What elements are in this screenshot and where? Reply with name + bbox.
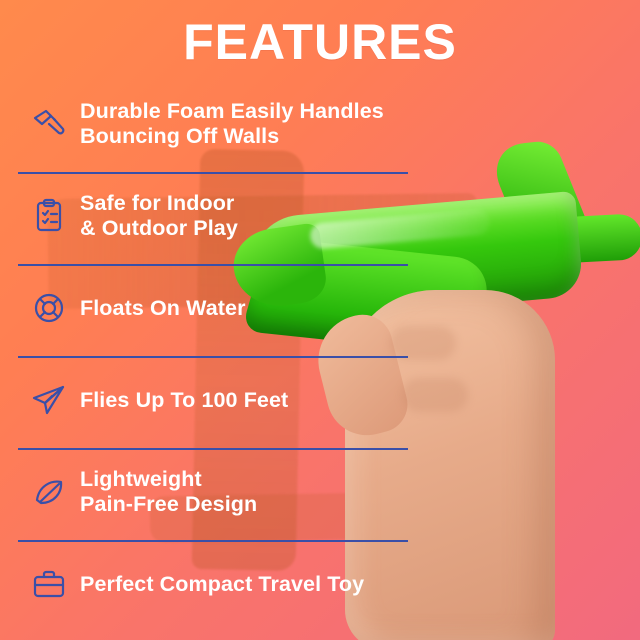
feature-poster: FEATURES Durable Foam Easily Handles Bou… bbox=[0, 0, 640, 640]
page-title: FEATURES bbox=[0, 14, 640, 70]
list-item-label: Floats On Water bbox=[80, 296, 246, 321]
list-item: Lightweight Pain-Free Design bbox=[18, 448, 408, 540]
list-item: Safe for Indoor & Outdoor Play bbox=[18, 172, 408, 264]
clipboard-checklist-icon bbox=[18, 188, 80, 244]
list-item: Perfect Compact Travel Toy bbox=[18, 540, 408, 632]
briefcase-icon bbox=[18, 556, 80, 612]
plane-vertical-stabilizer bbox=[484, 140, 589, 236]
life-ring-icon bbox=[18, 280, 80, 336]
plane-horizontal-stabilizer bbox=[531, 213, 640, 265]
knuckle-shadow bbox=[402, 378, 468, 412]
list-item-label: Durable Foam Easily Handles Bouncing Off… bbox=[80, 99, 384, 149]
list-item: Durable Foam Easily Handles Bouncing Off… bbox=[18, 82, 408, 172]
feature-list: Durable Foam Easily Handles Bouncing Off… bbox=[18, 82, 408, 632]
list-item: Flies Up To 100 Feet bbox=[18, 356, 408, 448]
feather-icon bbox=[18, 464, 80, 520]
list-item-label: Flies Up To 100 Feet bbox=[80, 388, 288, 413]
paper-plane-icon bbox=[18, 372, 80, 428]
list-item: Floats On Water bbox=[18, 264, 408, 356]
list-item-label: Safe for Indoor & Outdoor Play bbox=[80, 191, 238, 241]
hammer-icon bbox=[18, 96, 80, 152]
list-item-label: Lightweight Pain-Free Design bbox=[80, 467, 257, 517]
list-item-label: Perfect Compact Travel Toy bbox=[80, 572, 364, 597]
